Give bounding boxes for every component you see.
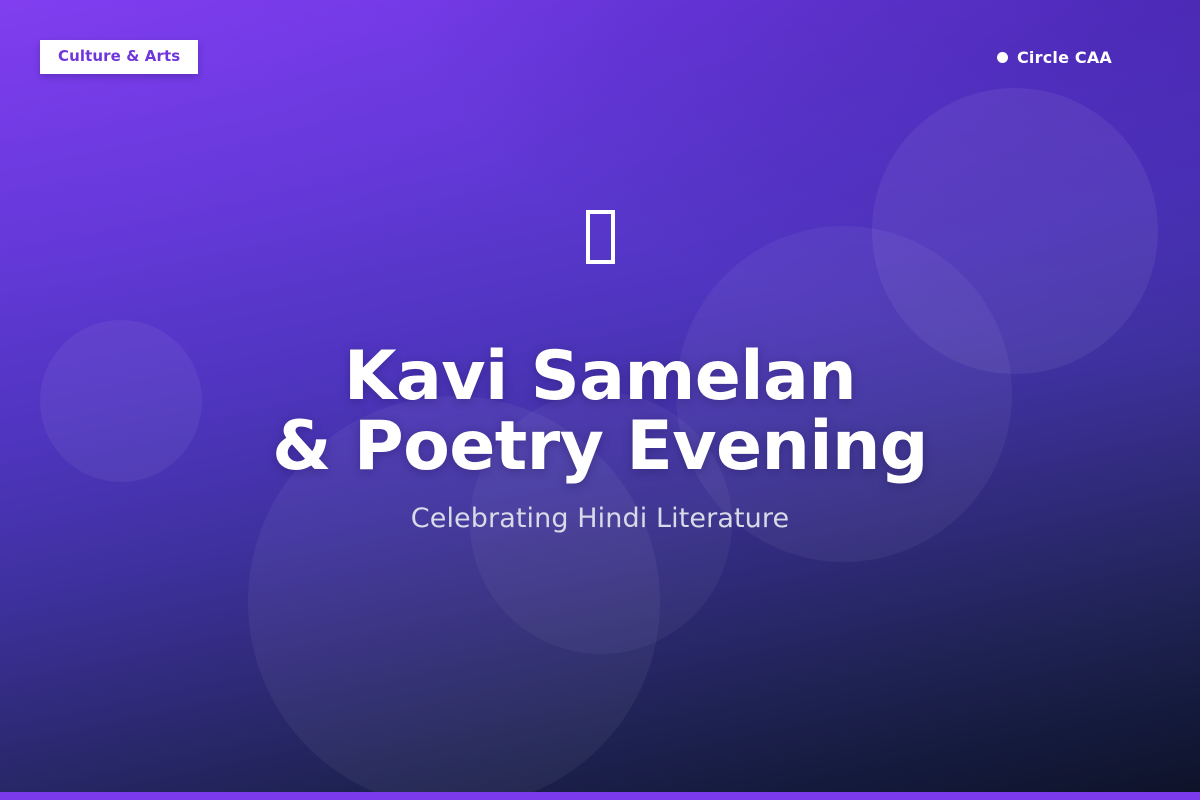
brand-mark: Circle CAA bbox=[997, 40, 1112, 67]
slide-hero: Kavi Samelan & Poetry Evening Celebratin… bbox=[0, 0, 1200, 800]
title-line-2: & Poetry Evening bbox=[272, 412, 928, 482]
filled-circle-icon bbox=[997, 52, 1008, 63]
title-line-1: Kavi Samelan bbox=[272, 342, 928, 412]
slide-header: Culture & Arts Circle CAA bbox=[0, 0, 1200, 116]
category-badge: Culture & Arts bbox=[40, 40, 198, 74]
brand-name: Circle CAA bbox=[1017, 48, 1112, 67]
presentation-slide: Culture & Arts Circle CAA Kavi Samelan &… bbox=[0, 0, 1200, 800]
page-subtitle: Celebrating Hindi Literature bbox=[411, 503, 789, 534]
bottom-accent-bar bbox=[0, 792, 1200, 800]
missing-glyph-box-icon bbox=[586, 210, 615, 264]
page-title: Kavi Samelan & Poetry Evening bbox=[272, 342, 928, 482]
